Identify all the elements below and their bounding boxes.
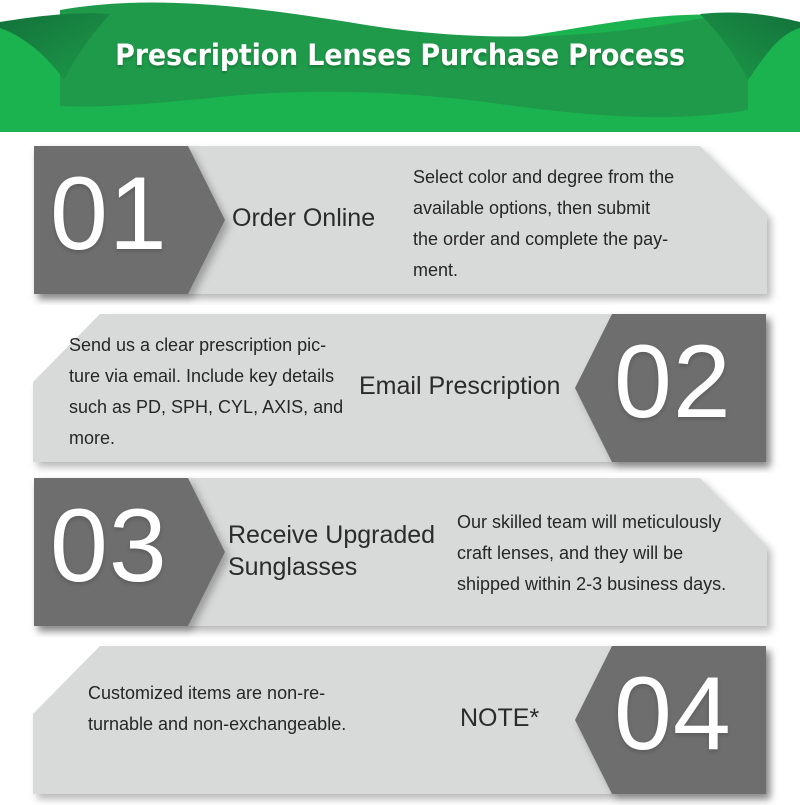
desc-line: the order and complete the pay- [413, 224, 674, 255]
desc-line: such as PD, SPH, CYL, AXIS, and [69, 392, 343, 423]
step-3-title: Receive Upgraded Sunglasses [228, 519, 435, 583]
step-1-description: Select color and degree from the availab… [413, 162, 674, 286]
step-row-4: 04 NOTE* Customized items are non-re- tu… [0, 640, 800, 805]
desc-line: Send us a clear prescription pic- [69, 330, 343, 361]
step-2-description: Send us a clear prescription pic- ture v… [69, 330, 343, 454]
desc-line: ment. [413, 255, 674, 286]
desc-line: Select color and degree from the [413, 162, 674, 193]
step-3-description: Our skilled team will meticulously craft… [457, 507, 726, 600]
desc-line: craft lenses, and they will be [457, 538, 726, 569]
step-4-number: 04 [614, 662, 732, 766]
desc-line: turnable and non-exchangeable. [88, 709, 346, 740]
step-1-number: 01 [50, 162, 168, 266]
step-row-1: 01 Order Online Select color and degree … [0, 140, 800, 305]
step-1-title: Order Online [232, 202, 375, 234]
desc-line: more. [69, 423, 343, 454]
step-2-number: 02 [614, 330, 732, 434]
desc-line: Our skilled team will meticulously [457, 507, 726, 538]
step-4-title: NOTE* [460, 702, 539, 734]
desc-line: ture via email. Include key details [69, 361, 343, 392]
step-3-title-line: Sunglasses [228, 551, 435, 583]
step-4-description: Customized items are non-re- turnable an… [88, 678, 346, 740]
desc-line: shipped within 2-3 business days. [457, 569, 726, 600]
header-banner: Prescription Lenses Purchase Process [0, 0, 800, 132]
step-3-title-line: Receive Upgraded [228, 519, 435, 551]
step-2-title: Email Prescription [359, 370, 560, 402]
page-title: Prescription Lenses Purchase Process [28, 38, 772, 72]
step-3-number: 03 [50, 494, 168, 598]
step-row-2: 02 Email Prescription Send us a clear pr… [0, 308, 800, 473]
step-row-3: 03 Receive Upgraded Sunglasses Our skill… [0, 472, 800, 637]
desc-line: available options, then submit [413, 193, 674, 224]
desc-line: Customized items are non-re- [88, 678, 346, 709]
